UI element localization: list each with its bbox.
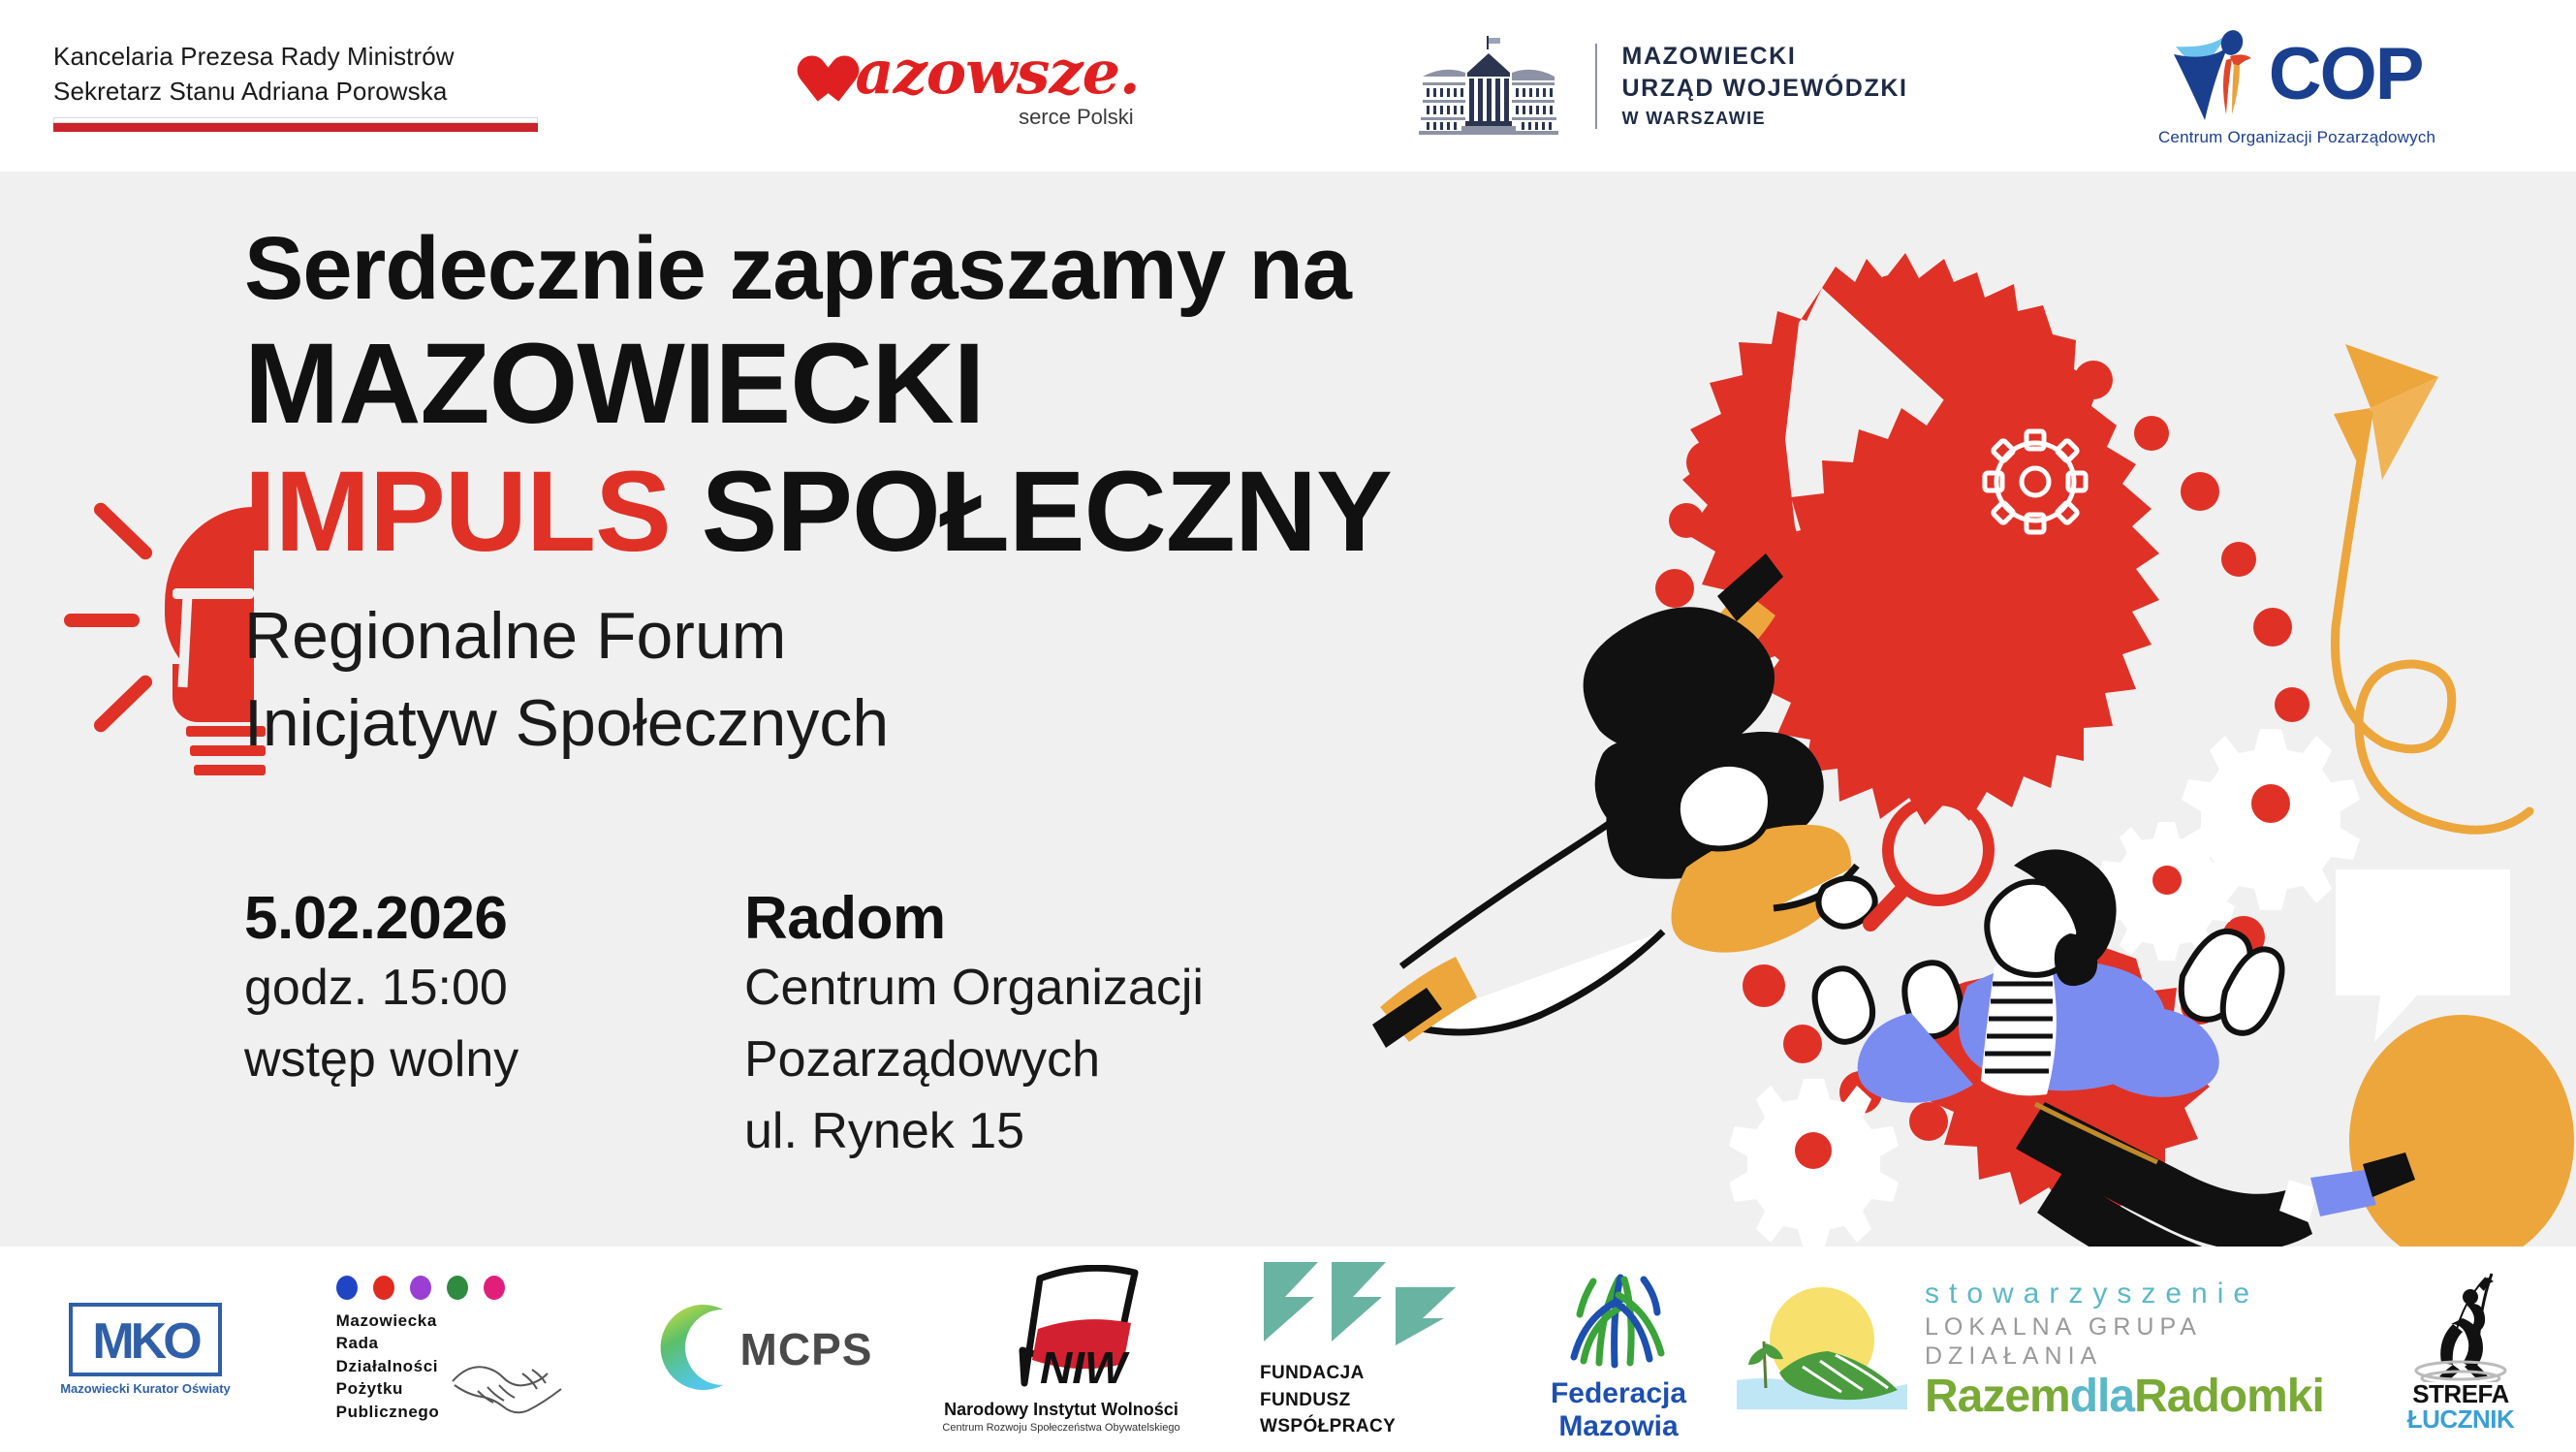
partner-logo-ffw: FUNDACJA FUNDUSZ WSPÓŁPRACY bbox=[1221, 1247, 1502, 1452]
person-figure-icon bbox=[2172, 25, 2265, 126]
event-venue-line-1: Centrum Organizacji bbox=[744, 953, 1204, 1025]
razem-part-1: Razem bbox=[1925, 1371, 2070, 1422]
mko-letters: MKO bbox=[92, 1316, 198, 1367]
muw-line-3: W WARSZAWIE bbox=[1622, 109, 1908, 129]
mazowsze-wordmark: azowsze. bbox=[855, 43, 1139, 103]
event-when-block: 5.02.2026 godz. 15:00 wstęp wolny bbox=[244, 884, 535, 1168]
mrdpp-line-5: Publicznego bbox=[336, 1401, 440, 1423]
orange-blob bbox=[2349, 1015, 2574, 1247]
page-title-line-1: MAZOWIECKI bbox=[244, 327, 984, 441]
event-venue-line-2: Pozarządowych bbox=[744, 1025, 1204, 1096]
strefa-line-1: STREFA bbox=[2412, 1381, 2509, 1406]
event-admission: wstęp wolny bbox=[244, 1025, 535, 1096]
lightbulb-icon bbox=[79, 499, 244, 790]
event-poster: Kancelaria Prezesa Rady Ministrów Sekret… bbox=[0, 0, 2576, 1452]
mazowsze-tagline: serce Polski bbox=[1019, 105, 1140, 130]
partner-logo-mrdpp: Mazowiecka Rada Działalności Pożytku Pub… bbox=[291, 1247, 611, 1452]
three-triangles-icon bbox=[1260, 1258, 1463, 1350]
partner-logo-federacja: Federacja Mazowia bbox=[1502, 1247, 1735, 1452]
event-address: ul. Rynek 15 bbox=[744, 1096, 1204, 1168]
event-city: Radom bbox=[744, 884, 1204, 953]
handshake-icon bbox=[449, 1342, 565, 1423]
muw-line-2: URZĄD WOJEWÓDZKI bbox=[1622, 76, 1908, 103]
razem-line-2: LOKALNA GRUPA DZIAŁANIA bbox=[1925, 1312, 2345, 1371]
subtitle-line-1: Regionalne Forum bbox=[244, 593, 889, 680]
mrdpp-line-1: Mazowiecka bbox=[336, 1310, 440, 1332]
ffw-line-3: WSPÓŁPRACY bbox=[1260, 1413, 1396, 1440]
sun-landscape-icon bbox=[1735, 1283, 1909, 1414]
event-where-block: Radom Centrum Organizacji Pozarządowych … bbox=[744, 884, 1204, 1168]
mrdpp-line-4: Pożytku bbox=[336, 1377, 440, 1400]
strefa-line-2: ŁUCZNIK bbox=[2407, 1406, 2515, 1432]
paper-plane-icon bbox=[2334, 344, 2438, 480]
header-logo-bar: Kancelaria Prezesa Rady Ministrów Sekret… bbox=[0, 0, 2576, 172]
mko-caption: Mazowiecki Kurator Oświaty bbox=[60, 1381, 231, 1396]
federacja-line-2: Mazowia bbox=[1558, 1410, 1678, 1443]
event-time: godz. 15:00 bbox=[244, 953, 535, 1025]
footer-partner-logos: MKO Mazowiecki Kurator Oświaty Mazowieck… bbox=[0, 1247, 2576, 1452]
kprm-line-1: Kancelaria Prezesa Rady Ministrów bbox=[53, 40, 538, 74]
ffw-line-2: FUNDUSZ bbox=[1260, 1387, 1396, 1414]
mrdpp-line-2: Rada bbox=[336, 1332, 440, 1354]
logo-kprm: Kancelaria Prezesa Rady Ministrów Sekret… bbox=[0, 0, 642, 172]
razem-part-2: dla bbox=[2070, 1371, 2134, 1422]
event-details: 5.02.2026 godz. 15:00 wstęp wolny Radom … bbox=[244, 884, 1204, 1168]
main-content: Serdecznie zapraszamy na MAZOWIECKI IMPU… bbox=[0, 172, 2576, 1247]
razem-wordmark: RazemdlaRadomki bbox=[1925, 1373, 2324, 1421]
text-column: Serdecznie zapraszamy na MAZOWIECKI IMPU… bbox=[0, 172, 1454, 1247]
mcps-letters: MCPS bbox=[740, 1323, 873, 1375]
partner-logo-mcps: MCPS bbox=[611, 1247, 901, 1452]
federacja-line-1: Federacja bbox=[1551, 1377, 1686, 1410]
color-dots bbox=[336, 1276, 566, 1300]
razem-line-1: stowarzyszenie bbox=[1925, 1278, 2259, 1311]
archer-silhouette-icon bbox=[2403, 1268, 2519, 1387]
curly-line bbox=[2335, 414, 2529, 830]
polish-flag-bar-icon bbox=[53, 117, 538, 132]
niw-caption-1: Narodowy Instytut Wolności bbox=[944, 1400, 1178, 1420]
heart-m-icon bbox=[799, 43, 861, 103]
polish-flag-wave-icon: NIW bbox=[964, 1265, 1158, 1396]
page-title-line-2: IMPULS SPOŁECZNY bbox=[244, 455, 1392, 569]
gradient-crescent-icon bbox=[640, 1294, 746, 1405]
logo-muw: MAZOWIECKI URZĄD WOJEWÓDZKI W WARSZAWIE bbox=[1297, 0, 2018, 172]
cop-tagline: Centrum Organizacji Pozarządowych bbox=[2158, 128, 2435, 147]
title-rest-word: SPOŁECZNY bbox=[671, 448, 1392, 576]
logo-mazowsze: azowsze. serce Polski bbox=[642, 0, 1297, 172]
government-building-icon bbox=[1407, 34, 1570, 139]
razem-part-3: Radomki bbox=[2134, 1371, 2324, 1422]
svg-text:NIW: NIW bbox=[1040, 1342, 1130, 1391]
partner-logo-razem-dla-radomki: stowarzyszenie LOKALNA GRUPA DZIAŁANIA R… bbox=[1735, 1247, 2345, 1452]
event-date: 5.02.2026 bbox=[244, 884, 535, 953]
kprm-line-2: Sekretarz Stanu Adriana Porowska bbox=[53, 75, 538, 109]
kicker-text: Serdecznie zapraszamy na bbox=[244, 218, 1351, 320]
muw-line-1: MAZOWIECKI bbox=[1622, 44, 1908, 71]
mazowieckie-map-with-people-illustration bbox=[1367, 172, 2576, 1247]
partner-logo-niw: NIW Narodowy Instytut Wolności Centrum R… bbox=[901, 1247, 1221, 1452]
subtitle-line-2: Inicjatyw Społecznych bbox=[244, 680, 889, 768]
tree-fan-icon bbox=[1560, 1256, 1677, 1377]
partner-logo-strefa-lucznik: STREFA ŁUCZNIK bbox=[2345, 1247, 2576, 1452]
cop-wordmark: COP bbox=[2269, 42, 2423, 108]
speech-bubble-icon bbox=[2336, 869, 2510, 1042]
subtitle: Regionalne Forum Inicjatyw Społecznych bbox=[244, 593, 889, 768]
partner-logo-mko: MKO Mazowiecki Kurator Oświaty bbox=[0, 1247, 291, 1452]
ffw-line-1: FUNDACJA bbox=[1260, 1360, 1396, 1387]
mrdpp-line-3: Działalności bbox=[336, 1355, 440, 1377]
logo-cop: COP Centrum Organizacji Pozarządowych bbox=[2018, 0, 2576, 172]
title-accent-word: IMPULS bbox=[244, 448, 671, 576]
niw-caption-2: Centrum Rozwoju Społeczeństwa Obywatelsk… bbox=[942, 1422, 1179, 1434]
